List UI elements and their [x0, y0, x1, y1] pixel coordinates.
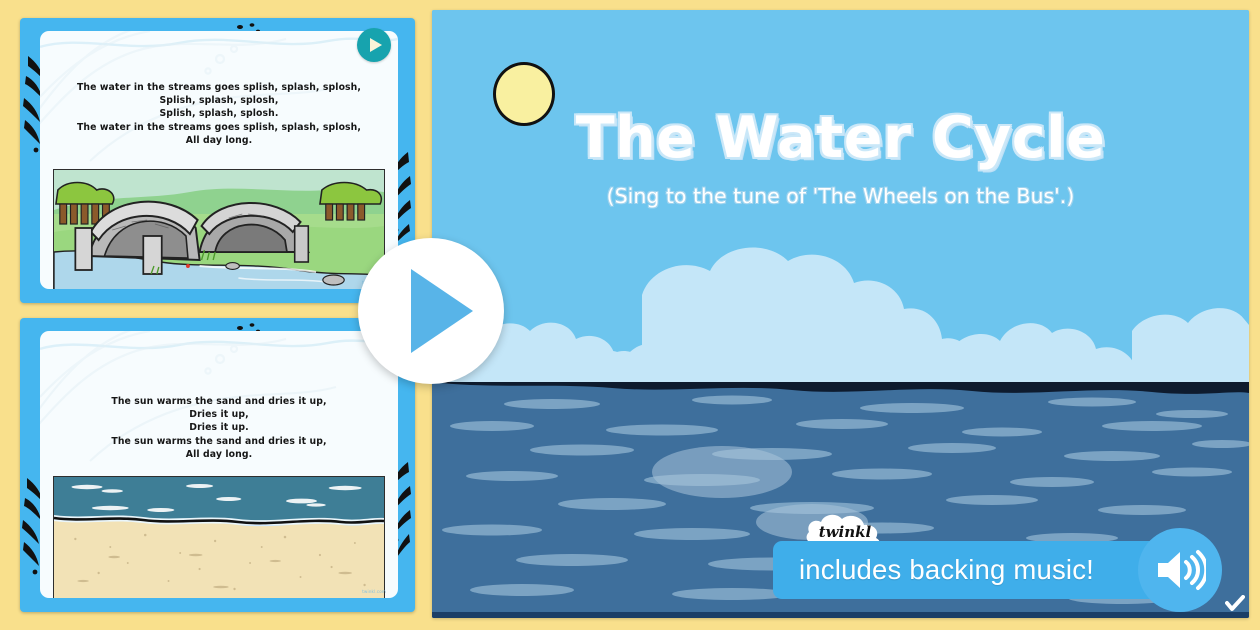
play-video-button[interactable] — [358, 238, 504, 384]
lyric-line: Splish, splash, splosh, — [52, 94, 386, 107]
lyric-line: The sun warms the sand and dries it up, — [52, 435, 386, 448]
slide-illustration-bridge — [53, 169, 385, 289]
cloud-band — [432, 235, 1249, 390]
slide-content-card-1: The water in the streams goes splish, sp… — [40, 31, 398, 289]
sun-icon — [493, 62, 555, 126]
slide-content-card-2: The sun warms the sand and dries it up, … — [40, 331, 398, 598]
lyric-line: The water in the streams goes splish, sp… — [52, 81, 386, 94]
slide-play-badge-1[interactable] — [357, 28, 391, 62]
play-triangle-icon — [411, 269, 473, 353]
verified-check-icon — [1225, 595, 1245, 612]
slide-lyrics-1: The water in the streams goes splish, sp… — [52, 81, 386, 147]
main-preview-panel[interactable]: The Water Cycle (Sing to the tune of 'Th… — [432, 10, 1249, 618]
slide-footer-watermark: twinkl.com — [362, 589, 386, 594]
lyric-line: Dries it up. — [52, 421, 386, 434]
slide-lyrics-2: The sun warms the sand and dries it up, … — [52, 395, 386, 461]
speaker-volume-icon[interactable] — [1138, 528, 1222, 612]
backing-music-label: includes backing music! — [773, 554, 1094, 586]
play-triangle-icon — [370, 38, 382, 52]
slide-thumbnail-2[interactable]: The sun warms the sand and dries it up, … — [20, 318, 415, 612]
lyric-line: Dries it up, — [52, 408, 386, 421]
lyric-line: Splish, splash, splosh. — [52, 107, 386, 120]
presentation-preview-stage: The water in the streams goes splish, sp… — [0, 0, 1260, 630]
lyric-line: The water in the streams goes splish, sp… — [52, 121, 386, 134]
twinkl-logo-text: twinkl — [819, 523, 872, 541]
lyric-line: The sun warms the sand and dries it up, — [52, 395, 386, 408]
wave-line-decoration — [40, 31, 398, 65]
slide-thumbnail-1[interactable]: The water in the streams goes splish, sp… — [20, 18, 415, 303]
wave-line-decoration — [40, 331, 398, 365]
lyric-line: All day long. — [52, 448, 386, 461]
slide-illustration-beach — [53, 476, 385, 598]
lyric-line: All day long. — [52, 134, 386, 147]
